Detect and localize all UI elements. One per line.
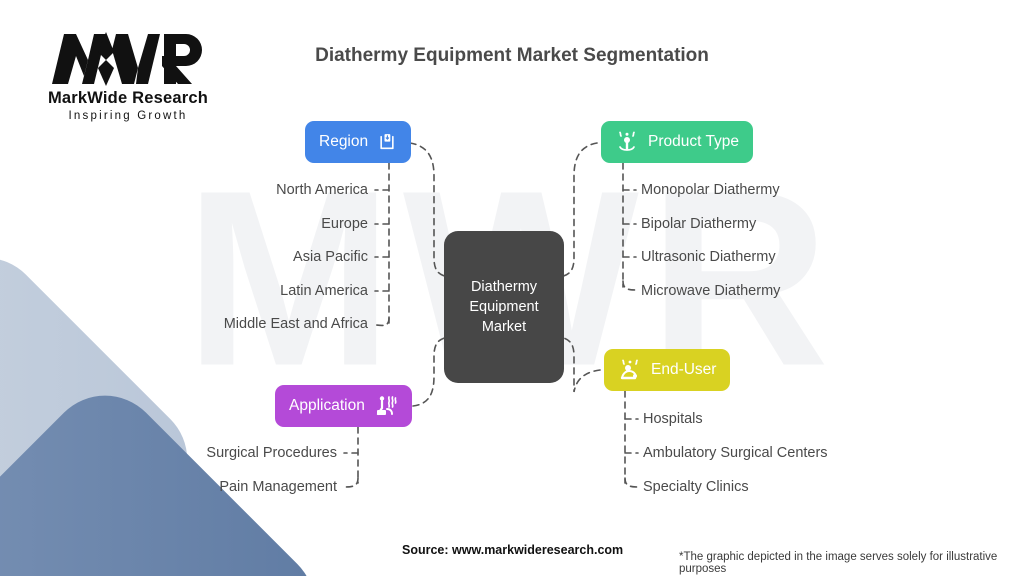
tick-enduser-2 bbox=[625, 478, 638, 487]
center-node-label: Diathermy Equipment Market bbox=[469, 277, 538, 337]
leaf-label: Middle East and Africa bbox=[224, 316, 368, 332]
footer-disclaimer: *The graphic depicted in the image serve… bbox=[679, 551, 1024, 575]
leaf-region-2[interactable]: Asia Pacific bbox=[168, 249, 368, 265]
leaf-label: Ambulatory Surgical Centers bbox=[643, 445, 828, 461]
leaf-label: Europe bbox=[321, 216, 368, 232]
branch-badge-end-user[interactable]: End-User bbox=[604, 349, 730, 391]
leaf-application-0[interactable]: Surgical Procedures bbox=[157, 445, 337, 461]
leaf-label: Hospitals bbox=[643, 411, 703, 427]
diathermy-patient-icon bbox=[615, 130, 639, 154]
leaf-label: Surgical Procedures bbox=[206, 445, 337, 461]
company-logo: MarkWide Research Inspiring Growth bbox=[28, 30, 228, 122]
leaf-region-3[interactable]: Latin America bbox=[168, 283, 368, 299]
leaf-label: North America bbox=[276, 182, 368, 198]
footer-source[interactable]: Source: www.markwideresearch.com bbox=[402, 543, 623, 557]
branch-label-end-user: End-User bbox=[651, 361, 716, 379]
page-title: Diathermy Equipment Market Segmentation bbox=[0, 45, 1024, 67]
logo-tagline: Inspiring Growth bbox=[28, 110, 228, 122]
leaf-region-0[interactable]: North America bbox=[168, 182, 368, 198]
leaf-end-user-2[interactable]: Specialty Clinics bbox=[643, 479, 749, 495]
leaf-label: Asia Pacific bbox=[293, 249, 368, 265]
leaf-label: Specialty Clinics bbox=[643, 479, 749, 495]
branch-label-region: Region bbox=[319, 133, 368, 151]
leaf-label: Latin America bbox=[280, 283, 368, 299]
leaf-label: Pain Management bbox=[219, 479, 337, 495]
tick-product-3 bbox=[623, 281, 636, 290]
leaf-label: Microwave Diathermy bbox=[641, 283, 780, 299]
center-node[interactable]: Diathermy Equipment Market bbox=[444, 231, 564, 383]
tick-region-4 bbox=[376, 318, 389, 325]
leaf-product-type-0[interactable]: Monopolar Diathermy bbox=[641, 182, 780, 198]
leaf-label: Monopolar Diathermy bbox=[641, 182, 780, 198]
leaf-label: Ultrasonic Diathermy bbox=[641, 249, 776, 265]
branch-badge-region[interactable]: Region bbox=[305, 121, 411, 163]
leaf-region-1[interactable]: Europe bbox=[168, 216, 368, 232]
logo-company-name: MarkWide Research bbox=[28, 89, 228, 108]
branch-label-application: Application bbox=[289, 397, 365, 415]
tick-application-1 bbox=[345, 478, 358, 487]
leaf-end-user-0[interactable]: Hospitals bbox=[643, 411, 703, 427]
leaf-region-4[interactable]: Middle East and Africa bbox=[148, 316, 368, 332]
connector-enduser-to-center bbox=[558, 337, 600, 392]
leaf-application-1[interactable]: Pain Management bbox=[157, 479, 337, 495]
region-map-pin-icon bbox=[377, 132, 397, 153]
center-line-1: Diathermy bbox=[471, 279, 537, 295]
leaf-product-type-1[interactable]: Bipolar Diathermy bbox=[641, 216, 756, 232]
branch-label-product-type: Product Type bbox=[648, 133, 739, 151]
leaf-product-type-3[interactable]: Microwave Diathermy bbox=[641, 283, 780, 299]
branch-badge-product-type[interactable]: Product Type bbox=[601, 121, 753, 163]
branch-badge-application[interactable]: Application bbox=[275, 385, 412, 427]
leaf-end-user-1[interactable]: Ambulatory Surgical Centers bbox=[643, 445, 828, 461]
leaf-label: Bipolar Diathermy bbox=[641, 216, 756, 232]
leaf-product-type-2[interactable]: Ultrasonic Diathermy bbox=[641, 249, 776, 265]
patient-care-icon bbox=[618, 358, 642, 382]
therapy-session-icon bbox=[374, 394, 398, 418]
center-line-3: Market bbox=[482, 319, 526, 335]
center-line-2: Equipment bbox=[469, 299, 538, 315]
